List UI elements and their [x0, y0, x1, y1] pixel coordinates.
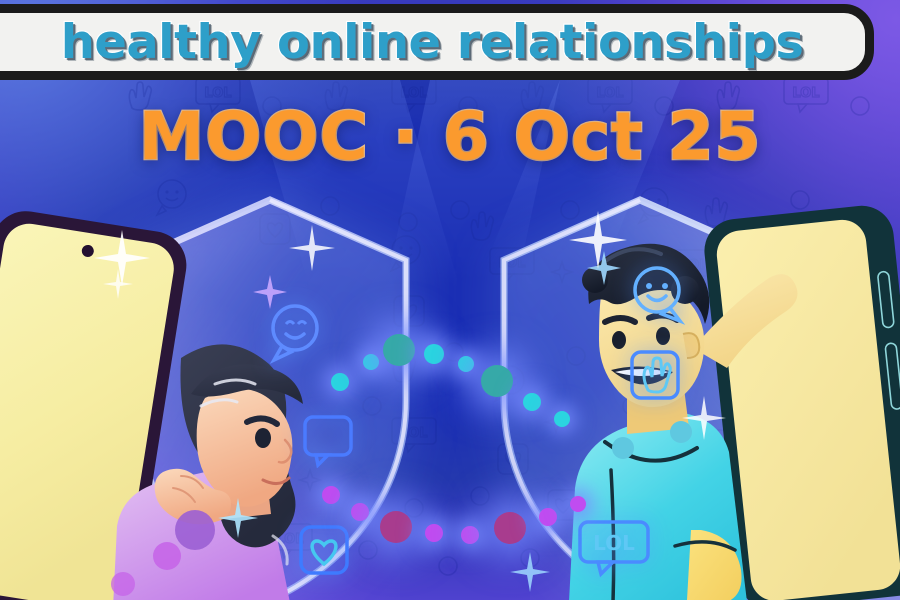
smiley-chat-bubble-icon-right	[624, 262, 690, 328]
lol-square-icon-right: LOL	[576, 518, 652, 578]
connection-dot-bottom-2	[380, 511, 412, 543]
connection-dot-top-5	[481, 365, 513, 397]
svg-text:LOL: LOL	[593, 531, 635, 555]
page-title: healthy online relationships	[61, 15, 804, 70]
poster-canvas: LOL	[0, 0, 900, 600]
connection-dot-top-6	[523, 393, 541, 411]
connection-dot-top-4	[458, 356, 474, 372]
sparkle-icon-2	[253, 275, 287, 309]
sparkle-icon-7	[682, 396, 726, 440]
connection-dot-bottom-6	[539, 508, 557, 526]
sparkle-icon-3	[289, 225, 335, 271]
sparkle-icon-5	[569, 211, 627, 269]
connection-dot-top-2	[383, 334, 415, 366]
connection-dot-bottom-3	[425, 524, 443, 542]
connection-dot-top-0	[331, 373, 349, 391]
sparkle-icon-9	[510, 552, 550, 592]
sparkle-icon-6	[218, 498, 258, 538]
sparkle-icon-8	[103, 269, 133, 299]
subtitle-block: MOOC · 6 Oct 25	[0, 98, 900, 175]
title-banner: healthy online relationships	[0, 4, 874, 80]
smiley-chat-bubble-icon-left	[262, 300, 328, 366]
connection-dot-top-1	[363, 354, 379, 370]
connection-dot-top-7	[554, 411, 570, 427]
connection-dot-bottom-0	[322, 486, 340, 504]
subtitle-text: MOOC · 6 Oct 25	[139, 98, 762, 175]
heart-square-icon-left	[296, 522, 352, 578]
connection-dot-bottom-1	[351, 503, 369, 521]
connection-dot-bottom-7	[570, 496, 586, 512]
chat-square-icon-left	[300, 412, 356, 468]
connection-dot-bottom-4	[461, 526, 479, 544]
connection-dot-bottom-5	[494, 512, 526, 544]
peace-hand-icon-right	[628, 348, 682, 402]
connection-dot-top-3	[424, 344, 444, 364]
